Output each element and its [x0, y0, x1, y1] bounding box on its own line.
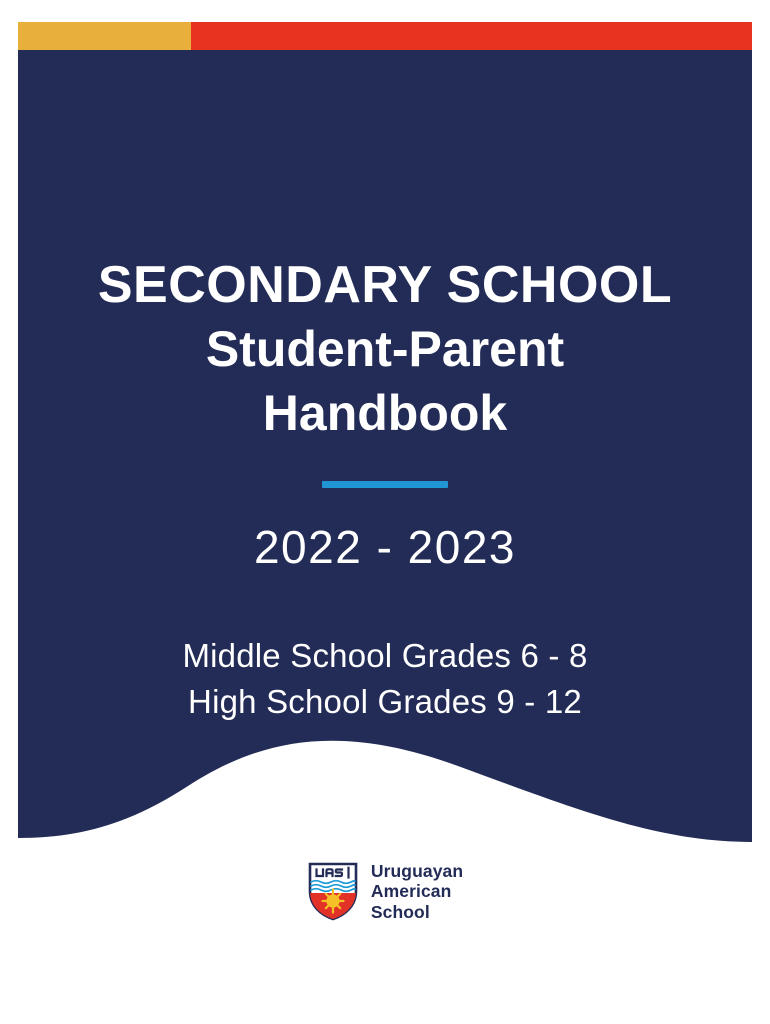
navy-cover-panel: SECONDARY SCHOOL Student-Parent Handbook…: [18, 50, 752, 850]
title-line-student-parent: Student-Parent: [18, 311, 752, 374]
grade-range-block: Middle School Grades 6 - 8 High School G…: [18, 570, 752, 724]
uas-shield-icon: [307, 861, 359, 921]
school-wordmark: Uruguayan American School: [371, 861, 463, 922]
grade-range-high-school: High School Grades 9 - 12: [18, 679, 752, 725]
blue-divider-rule: [322, 481, 448, 488]
wordmark-line-2: American: [371, 881, 463, 901]
wordmark-line-3: School: [371, 902, 463, 922]
top-accent-bar: [18, 22, 752, 50]
red-accent-segment: [191, 22, 752, 50]
school-year-label: 2022 - 2023: [18, 488, 752, 570]
title-line-secondary-school: SECONDARY SCHOOL: [18, 50, 752, 311]
cover-title-block: SECONDARY SCHOOL Student-Parent Handbook…: [18, 50, 752, 724]
title-line-handbook: Handbook: [18, 374, 752, 438]
grade-range-middle-school: Middle School Grades 6 - 8: [18, 633, 752, 679]
gold-accent-segment: [18, 22, 191, 50]
shield-sun: [322, 890, 343, 913]
school-logo-lockup: Uruguayan American School: [0, 861, 770, 922]
wordmark-line-1: Uruguayan: [371, 861, 463, 881]
handbook-cover-page: SECONDARY SCHOOL Student-Parent Handbook…: [0, 0, 770, 1024]
